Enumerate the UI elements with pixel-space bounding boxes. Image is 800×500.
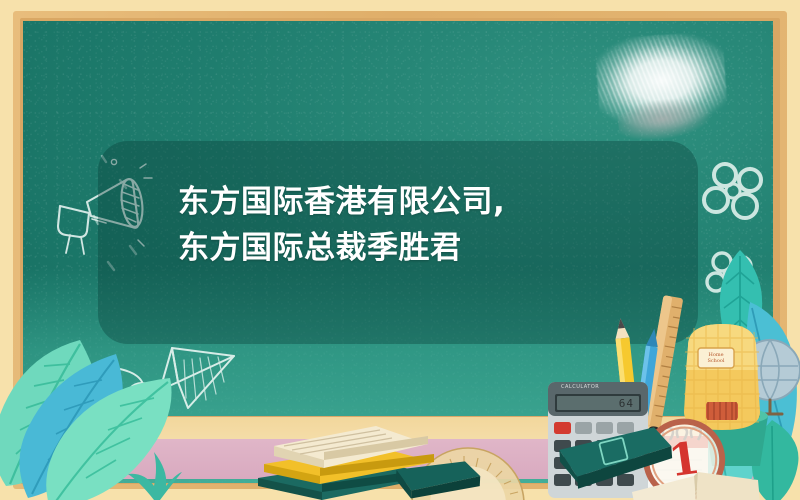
dark-book-icon — [393, 456, 485, 500]
plant-sprout-small — [124, 452, 184, 500]
backpack-label-line2: School — [707, 358, 724, 364]
page-title: 东方国际香港有限公司,东方国际总裁季胜君 — [178, 179, 508, 271]
flower-large-icon — [700, 158, 772, 236]
teal-book-icon — [554, 424, 678, 492]
banner-canvas: 东方国际香港有限公司,东方国际总裁季胜君 — [0, 0, 800, 500]
